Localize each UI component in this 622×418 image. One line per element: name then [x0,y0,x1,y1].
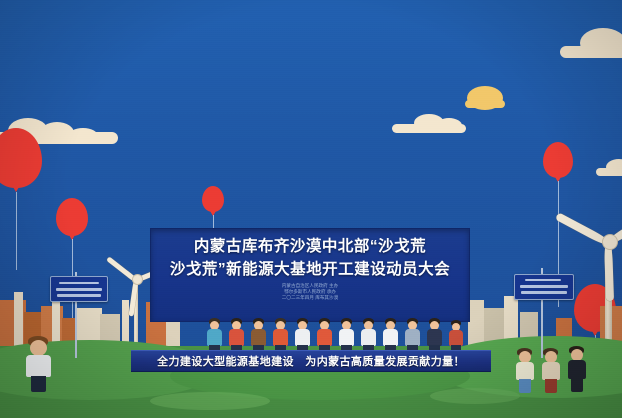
grass-patch-foreground [150,392,270,410]
sign-plate [50,276,108,302]
banner-title-line1: 内蒙古库布齐沙漠中北部“沙戈荒 [151,235,469,258]
slogan-bar: 全力建设大型能源基地建设 为内蒙古高质量发展贡献力量！ [131,350,491,372]
banner-subtitle-line3: 二〇二三年四月 库布其沙漠 [151,295,469,301]
sign-plate [514,274,574,300]
banner-title-line2: 沙戈荒”新能源大基地开工建设动员大会 [151,258,469,281]
stage-banner: 内蒙古库布齐沙漠中北部“沙戈荒 沙戈荒”新能源大基地开工建设动员大会 内蒙古自治… [150,228,470,322]
video-frame: 库布其沙漠新能源基地 蒙西基地 鄂尔多斯片区 沙戈荒新能源大基地 内蒙古 库布其… [0,0,622,418]
grass-patch-foreground [430,388,520,404]
slogan-text: 全力建设大型能源基地建设 为内蒙古高质量发展贡献力量！ [157,353,465,369]
